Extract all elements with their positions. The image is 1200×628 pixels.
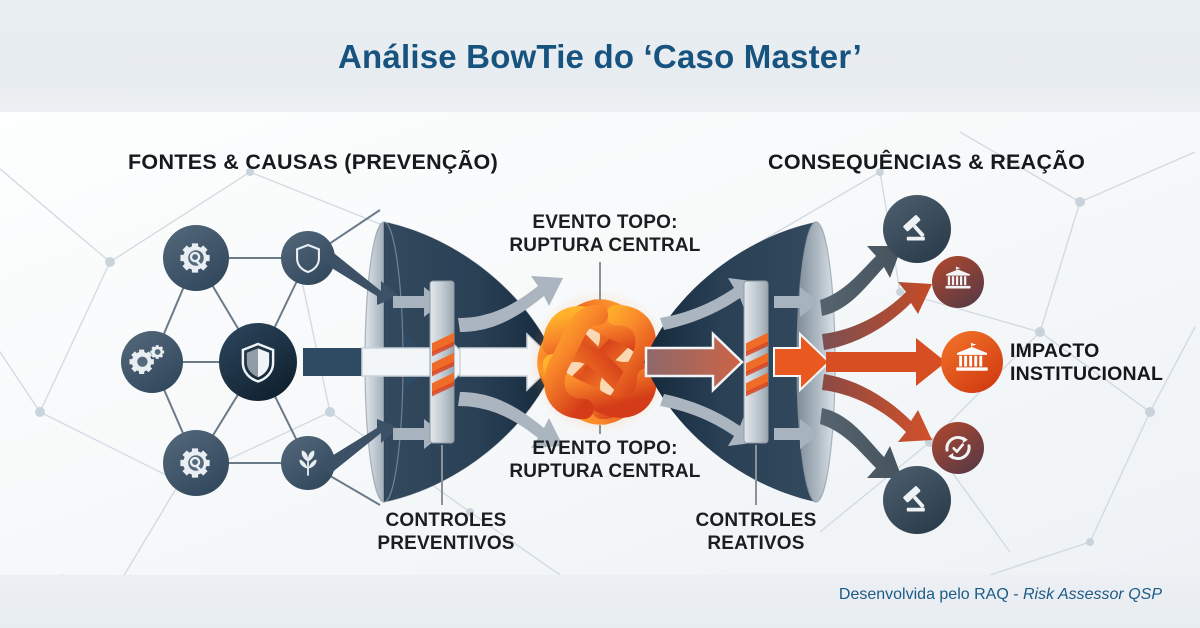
gear-magnifier-icon <box>180 243 209 272</box>
top-event-label-upper: EVENTO TOPO: RUPTURA CENTRAL <box>475 211 735 257</box>
footer-prefix: Desenvolvida pelo RAQ - <box>839 586 1023 603</box>
left-section-heading: FONTES & CAUSAS (PREVENÇÃO) <box>128 150 498 175</box>
right-section-heading: CONSEQUÊNCIAS & REAÇÃO <box>768 150 1085 175</box>
gear-magnifier-icon <box>180 448 209 477</box>
top-event-label-lower: EVENTO TOPO: RUPTURA CENTRAL <box>475 437 735 483</box>
consequence-arrows <box>820 246 946 478</box>
footer-credit: Desenvolvida pelo RAQ - Risk Assessor QS… <box>839 586 1162 604</box>
footer-emphasis: Risk Assessor QSP <box>1023 586 1162 603</box>
reactive-controls-label: CONTROLES REATIVOS <box>641 509 871 555</box>
page-title: Análise BowTie do ‘Caso Master’ <box>0 38 1200 76</box>
impact-label: IMPACTO INSTITUCIONAL <box>1010 340 1190 387</box>
bowtie-diagram <box>0 0 1200 628</box>
node-cycle-check[interactable] <box>932 422 984 474</box>
preventive-controls-label: CONTROLES PREVENTIVOS <box>331 509 561 555</box>
slide-canvas: Análise BowTie do ‘Caso Master’ FONTES &… <box>0 0 1200 628</box>
